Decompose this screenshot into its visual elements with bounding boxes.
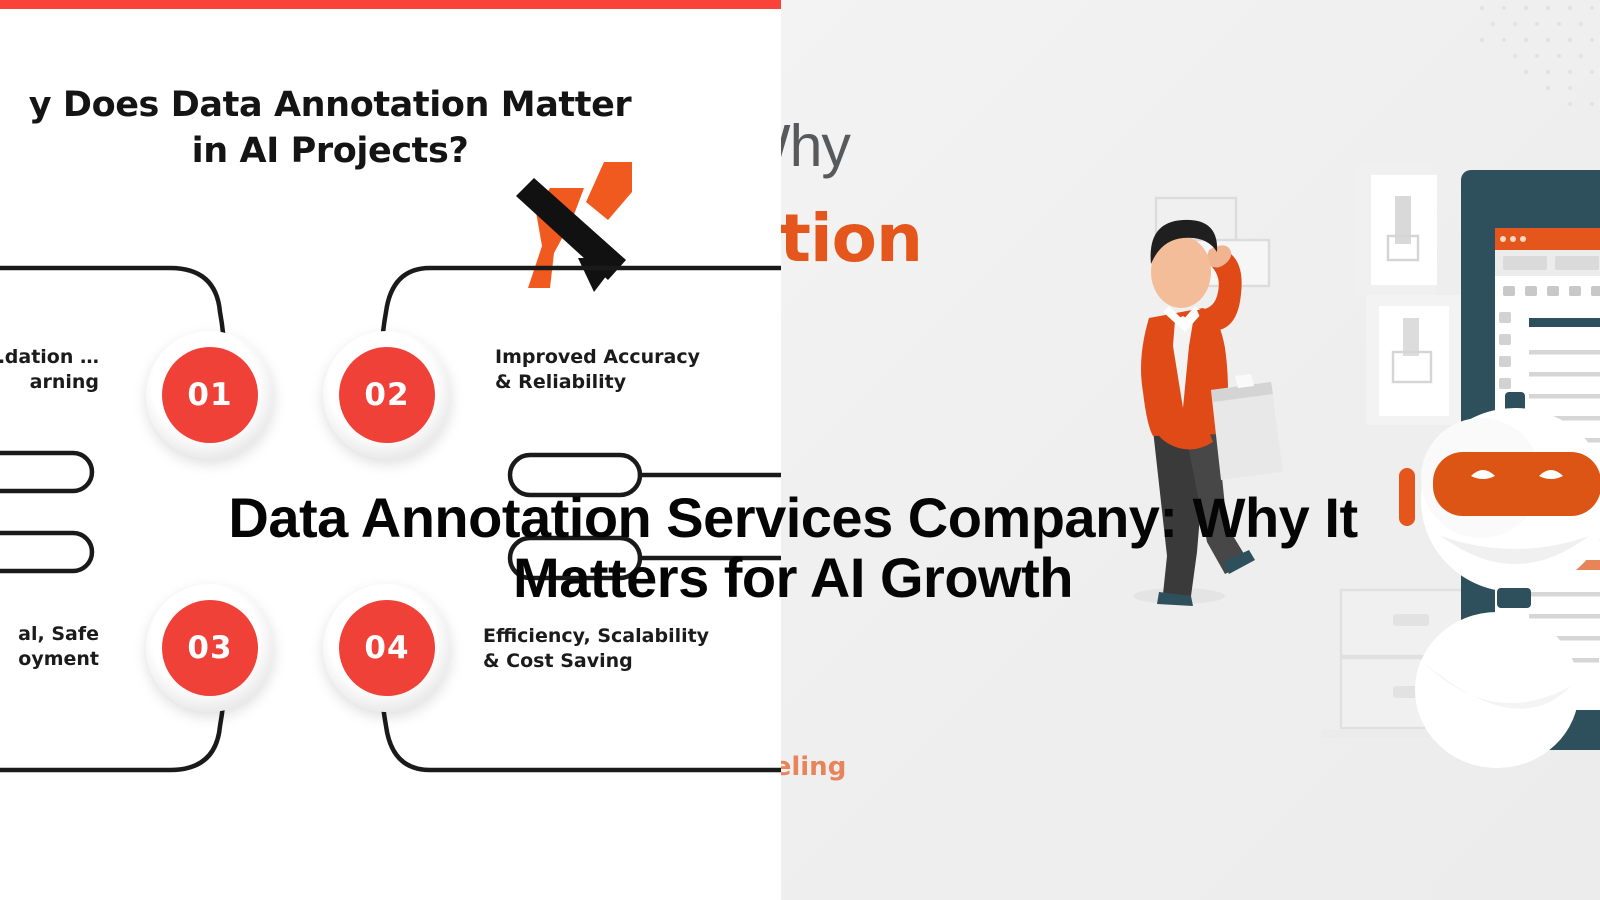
step-label-01: …dation …arning [0, 345, 99, 395]
step-label-02-line1: Improved Accuracy [495, 345, 781, 370]
step-circle-04: 04 [339, 600, 435, 696]
infographic-heading-line1: y Does Data Annotation Matter [0, 82, 730, 128]
step-circle-02: 02 [339, 347, 435, 443]
step-label-04: Efficiency, Scalability & Cost Saving [483, 624, 781, 674]
left-infographic-panel: y Does Data Annotation Matter in AI Proj… [0, 0, 781, 900]
step-label-04-line2: & Cost Saving [483, 649, 781, 674]
step-circle-01: 01 [162, 347, 258, 443]
banner-illustration [781, 0, 1600, 900]
step-label-04-line1: Efficiency, Scalability [483, 624, 781, 649]
overlay-page-title: Data Annotation Services Company: Why It… [228, 488, 1358, 609]
top-accent-bar [0, 0, 781, 9]
step-label-03-line2: oyment [0, 647, 99, 672]
step-label-02: Improved Accuracy & Reliability [495, 345, 781, 395]
step-label-01-line1: …dation …arning [0, 345, 99, 395]
step-label-03-line1: al, Safe [0, 622, 99, 647]
step-label-03: al, Safe oyment [0, 622, 99, 672]
step-label-02-line2: & Reliability [495, 370, 781, 395]
banner-image: y Does Data Annotation Matter in AI Proj… [0, 0, 1600, 900]
step-circle-03: 03 [162, 600, 258, 696]
right-banner-panel: s Why otation Labeling [781, 0, 1600, 900]
